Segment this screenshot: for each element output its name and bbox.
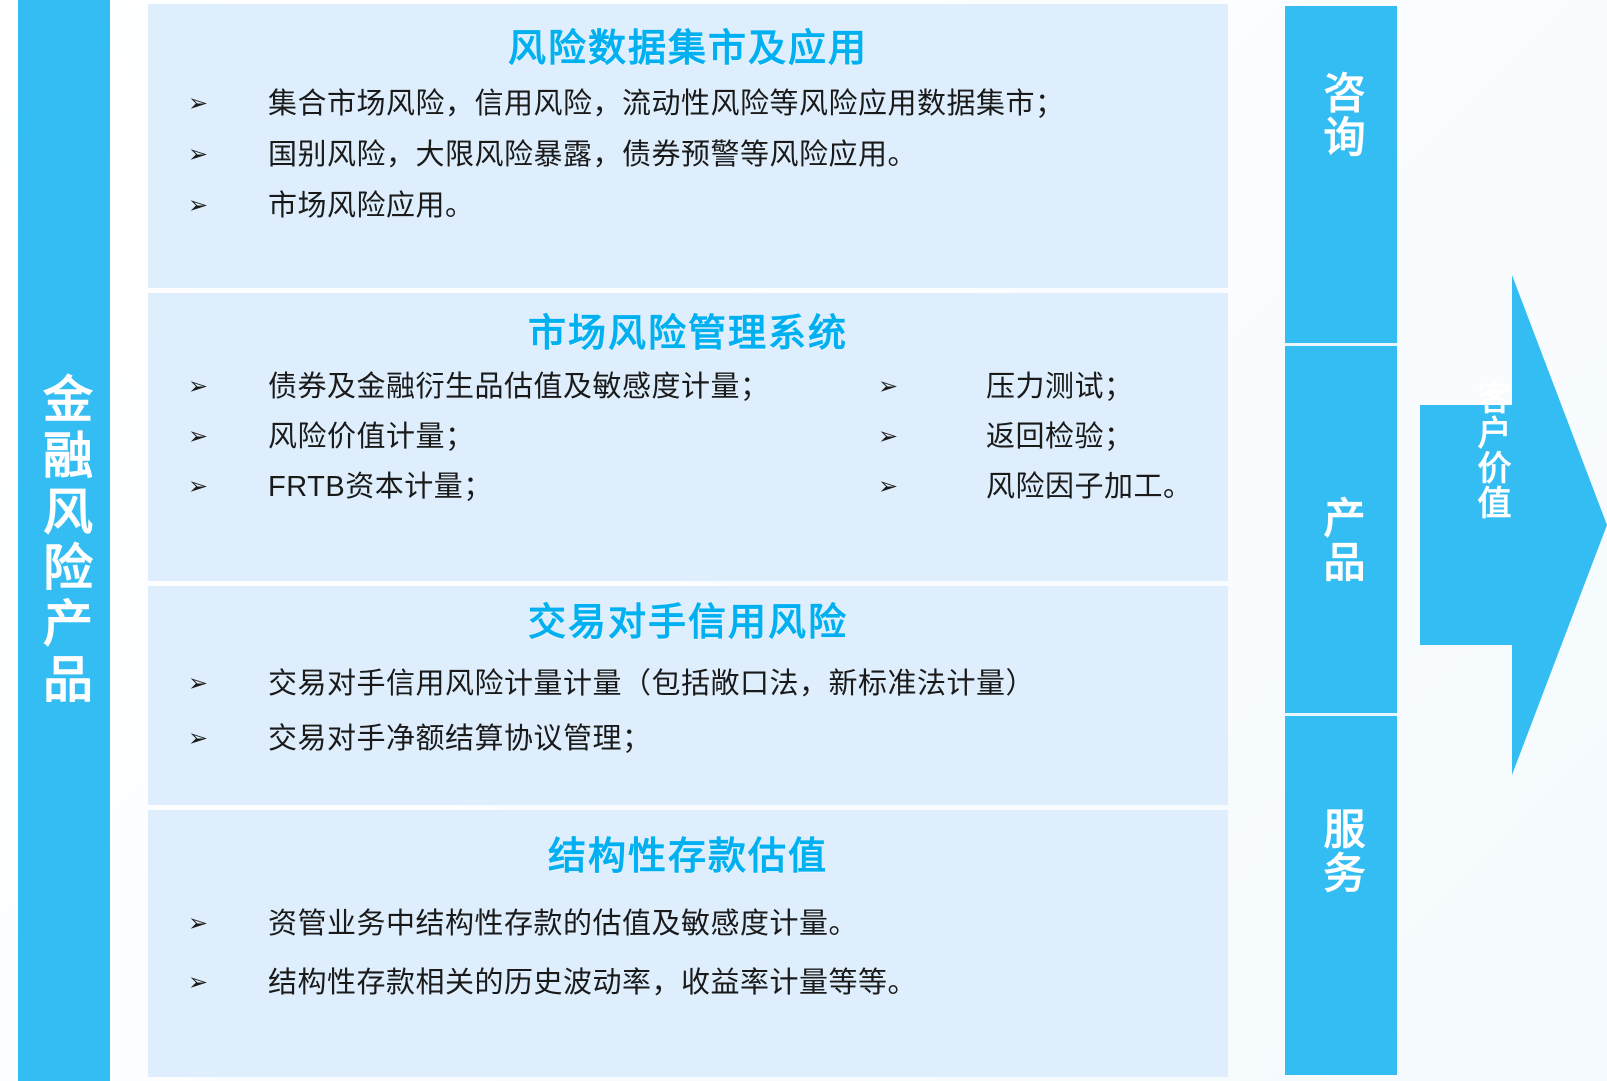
panel-risk-data-mart: 风险数据集市及应用 ➢ 集合市场风险，信用风险，流动性风险等风险应用数据集市； … — [148, 4, 1228, 288]
customer-value-arrow: 客户价值 — [1420, 275, 1607, 775]
bullet-text: 风险价值计量； — [268, 423, 856, 452]
bullet-text: 交易对手净额结算协议管理； — [268, 725, 1210, 754]
bullet-item: ➢ 集合市场风险，信用风险，流动性风险等风险应用数据集市； — [166, 90, 1210, 119]
bullet-text: 结构性存款相关的历史波动率，收益率计量等等。 — [268, 969, 1210, 998]
bullet-text: 市场风险应用。 — [268, 192, 1210, 221]
arrow-bullet-icon: ➢ — [866, 473, 986, 501]
bullet-item: ➢ 交易对手净额结算协议管理； — [166, 725, 1210, 754]
bullet-item: ➢ 市场风险应用。 — [166, 192, 1210, 221]
arrow-bullet-icon: ➢ — [866, 373, 986, 401]
left-category-label: 金融风险产品 — [37, 373, 91, 709]
bullet-columns: ➢ 交易对手信用风险计量计量（包括敞口法，新标准法计量） ➢ 交易对手净额结算协… — [166, 650, 1210, 754]
panel-title: 市场风险管理系统 — [166, 293, 1210, 361]
panel-structured-deposit-valuation: 结构性存款估值 ➢ 资管业务中结构性存款的估值及敏感度计量。 ➢ 结构性存款相关… — [148, 810, 1228, 1077]
panel-title: 交易对手信用风险 — [166, 586, 1210, 650]
bullet-columns: ➢ 债券及金融衍生品估值及敏感度计量； ➢ 风险价值计量； ➢ FRTB资本计量… — [166, 361, 1210, 502]
bullet-item: ➢ 结构性存款相关的历史波动率，收益率计量等等。 — [166, 969, 1210, 998]
bullet-text: 风险因子加工。 — [986, 473, 1210, 502]
arrow-bullet-icon: ➢ — [176, 373, 268, 401]
stage-label: 咨询 — [1319, 71, 1363, 159]
bullet-column: ➢ 债券及金融衍生品估值及敏感度计量； ➢ 风险价值计量； ➢ FRTB资本计量… — [166, 361, 856, 502]
bullet-text: 集合市场风险，信用风险，流动性风险等风险应用数据集市； — [268, 90, 1210, 119]
bullet-text: 国别风险，大限风险暴露，债券预警等风险应用。 — [268, 141, 1210, 170]
arrow-bullet-icon: ➢ — [866, 423, 986, 451]
bullet-column: ➢ 资管业务中结构性存款的估值及敏感度计量。 ➢ 结构性存款相关的历史波动率，收… — [166, 884, 1210, 998]
bullet-text: 交易对手信用风险计量计量（包括敞口法，新标准法计量） — [268, 670, 1210, 699]
arrow-bullet-icon: ➢ — [176, 141, 268, 169]
bullet-columns: ➢ 集合市场风险，信用风险，流动性风险等风险应用数据集市； ➢ 国别风险，大限风… — [166, 76, 1210, 221]
bullet-column: ➢ 压力测试； ➢ 返回检验； ➢ 风险因子加工。 — [856, 361, 1210, 502]
arrow-bullet-icon: ➢ — [176, 423, 268, 451]
arrow-bullet-icon: ➢ — [176, 670, 268, 698]
stage-label: 产品 — [1319, 496, 1363, 584]
arrow-bullet-icon: ➢ — [176, 473, 268, 501]
stage-block-product: 产品 — [1285, 346, 1397, 716]
arrow-bullet-icon: ➢ — [176, 90, 268, 118]
panel-counterparty-credit-risk: 交易对手信用风险 ➢ 交易对手信用风险计量计量（包括敞口法，新标准法计量） ➢ … — [148, 586, 1228, 805]
bullet-item: ➢ 债券及金融衍生品估值及敏感度计量； — [166, 373, 856, 402]
panel-title: 结构性存款估值 — [166, 810, 1210, 884]
panel-market-risk-system: 市场风险管理系统 ➢ 债券及金融衍生品估值及敏感度计量； ➢ 风险价值计量； ➢… — [148, 293, 1228, 582]
left-category-bar: 金融风险产品 — [18, 0, 110, 1081]
bullet-item: ➢ 风险价值计量； — [166, 423, 856, 452]
bullet-text: 债券及金融衍生品估值及敏感度计量； — [268, 373, 856, 402]
stage-block-consulting: 咨询 — [1285, 6, 1397, 346]
bullet-item: ➢ 压力测试； — [856, 373, 1210, 402]
customer-value-label: 客户价值 — [1434, 380, 1510, 520]
bullet-item: ➢ 资管业务中结构性存款的估值及敏感度计量。 — [166, 910, 1210, 939]
stage-block-service: 服务 — [1285, 716, 1397, 1075]
stage-label: 服务 — [1319, 807, 1363, 895]
bullet-item: ➢ FRTB资本计量； — [166, 473, 856, 502]
stage-column: 咨询 产品 服务 — [1285, 6, 1397, 1075]
arrow-bullet-icon: ➢ — [176, 725, 268, 753]
bullet-text: 返回检验； — [986, 423, 1210, 452]
bullet-column: ➢ 交易对手信用风险计量计量（包括敞口法，新标准法计量） ➢ 交易对手净额结算协… — [166, 650, 1210, 754]
bullet-text: 资管业务中结构性存款的估值及敏感度计量。 — [268, 910, 1210, 939]
bullet-item: ➢ 风险因子加工。 — [856, 473, 1210, 502]
bullet-item: ➢ 交易对手信用风险计量计量（包括敞口法，新标准法计量） — [166, 670, 1210, 699]
bullet-text: FRTB资本计量； — [268, 473, 856, 502]
product-panel-stack: 风险数据集市及应用 ➢ 集合市场风险，信用风险，流动性风险等风险应用数据集市； … — [148, 4, 1228, 1077]
bullet-item: ➢ 国别风险，大限风险暴露，债券预警等风险应用。 — [166, 141, 1210, 170]
right-arrow-icon — [1420, 275, 1607, 775]
arrow-bullet-icon: ➢ — [176, 910, 268, 938]
bullet-columns: ➢ 资管业务中结构性存款的估值及敏感度计量。 ➢ 结构性存款相关的历史波动率，收… — [166, 884, 1210, 998]
arrow-bullet-icon: ➢ — [176, 969, 268, 997]
bullet-text: 压力测试； — [986, 373, 1210, 402]
bullet-column: ➢ 集合市场风险，信用风险，流动性风险等风险应用数据集市； ➢ 国别风险，大限风… — [166, 76, 1210, 221]
panel-title: 风险数据集市及应用 — [166, 4, 1210, 76]
bullet-item: ➢ 返回检验； — [856, 423, 1210, 452]
arrow-bullet-icon: ➢ — [176, 192, 268, 220]
